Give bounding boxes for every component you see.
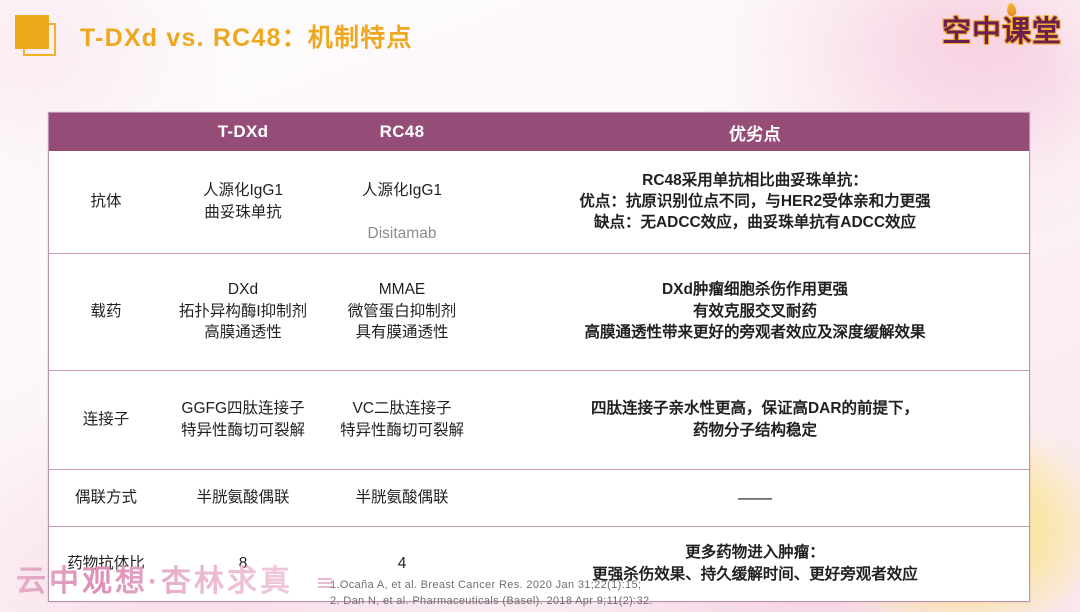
cell-rc48-antibody-line2: Disitamab xyxy=(368,225,437,242)
column-header-prosandcons: 优劣点 xyxy=(481,113,1029,151)
cell-rc48-conjugation: 半胱氨酸偶联 xyxy=(323,469,481,526)
cell-note-conjugation: —— xyxy=(481,469,1029,526)
cell-rc48-payload: MMAE 微管蛋白抑制剂 具有膜通透性 xyxy=(323,253,481,370)
comparison-table: T-DXd RC48 优劣点 抗体 人源化IgG1 曲妥珠单抗 人源化IgG1 … xyxy=(49,113,1029,601)
brand-logo: 空中课堂 xyxy=(942,8,1062,50)
brand-logo-text: 空中课堂 xyxy=(942,16,1062,48)
column-header-rc48: RC48 xyxy=(323,113,481,151)
table-row-antibody: 抗体 人源化IgG1 曲妥珠单抗 人源化IgG1 Disitamab RC48采… xyxy=(49,151,1029,253)
table-header-row: T-DXd RC48 优劣点 xyxy=(49,113,1029,151)
cell-note-antibody: RC48采用单抗相比曲妥珠单抗： 优点：抗原识别位点不同，与HER2受体亲和力更… xyxy=(481,151,1029,253)
slide-canvas: T-DXd vs. RC48：机制特点 空中课堂 T-DXd RC48 优劣点 … xyxy=(0,0,1080,612)
cell-tdxd-linker: GGFG四肽连接子 特异性酶切可裂解 xyxy=(163,370,323,469)
cell-tdxd-antibody: 人源化IgG1 曲妥珠单抗 xyxy=(163,151,323,253)
title-square-marker-icon xyxy=(14,14,58,58)
column-header-tdxd: T-DXd xyxy=(163,113,323,151)
cell-rc48-antibody: 人源化IgG1 Disitamab xyxy=(323,151,481,253)
table-row-payload: 载药 DXd 拓扑异构酶I抑制剂 高膜通透性 MMAE 微管蛋白抑制剂 具有膜通… xyxy=(49,253,1029,370)
row-label-linker: 连接子 xyxy=(49,370,163,469)
column-header-blank xyxy=(49,113,163,151)
cell-note-dar: 更多药物进入肿瘤： 更强杀伤效果、持久缓解时间、更好旁观者效应 xyxy=(481,526,1029,601)
row-label-dar: 药物抗体比 xyxy=(49,526,163,601)
table-row-dar: 药物抗体比 8 4 更多药物进入肿瘤： 更强杀伤效果、持久缓解时间、更好旁观者效… xyxy=(49,526,1029,601)
cell-note-linker: 四肽连接子亲水性更高，保证高DAR的前提下， 药物分子结构稳定 xyxy=(481,370,1029,469)
row-label-conjugation: 偶联方式 xyxy=(49,469,163,526)
cell-note-payload: DXd肿瘤细胞杀伤作用更强 有效克服交叉耐药 高膜通透性带来更好的旁观者效应及深… xyxy=(481,253,1029,370)
table-row-conjugation: 偶联方式 半胱氨酸偶联 半胱氨酸偶联 —— xyxy=(49,469,1029,526)
comparison-table-container: T-DXd RC48 优劣点 抗体 人源化IgG1 曲妥珠单抗 人源化IgG1 … xyxy=(48,112,1030,602)
table-body: 抗体 人源化IgG1 曲妥珠单抗 人源化IgG1 Disitamab RC48采… xyxy=(49,151,1029,601)
row-label-payload: 载药 xyxy=(49,253,163,370)
cell-rc48-antibody-line1: 人源化IgG1 xyxy=(362,182,442,199)
cell-tdxd-payload: DXd 拓扑异构酶I抑制剂 高膜通透性 xyxy=(163,253,323,370)
row-label-antibody: 抗体 xyxy=(49,151,163,253)
square-solid-icon xyxy=(15,15,49,49)
slide-title-row: T-DXd vs. RC48：机制特点 xyxy=(0,0,1080,72)
cell-tdxd-conjugation: 半胱氨酸偶联 xyxy=(163,469,323,526)
table-header: T-DXd RC48 优劣点 xyxy=(49,113,1029,151)
cell-tdxd-dar: 8 xyxy=(163,526,323,601)
page-title: T-DXd vs. RC48：机制特点 xyxy=(80,18,413,54)
cell-rc48-dar: 4 xyxy=(323,526,481,601)
table-row-linker: 连接子 GGFG四肽连接子 特异性酶切可裂解 VC二肽连接子 特异性酶切可裂解 … xyxy=(49,370,1029,469)
cell-rc48-linker: VC二肽连接子 特异性酶切可裂解 xyxy=(323,370,481,469)
